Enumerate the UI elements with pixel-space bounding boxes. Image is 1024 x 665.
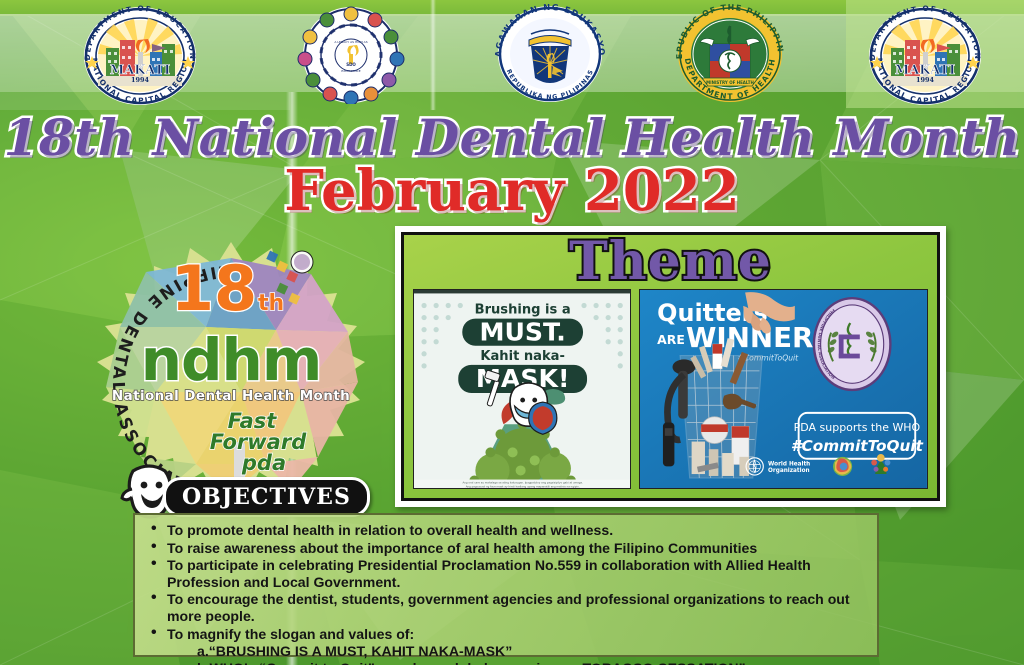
svg-text:ARE: ARE (657, 332, 685, 347)
svg-text:PDA supports the WHO: PDA supports the WHO (794, 421, 921, 434)
svg-text:MUST.: MUST. (479, 318, 565, 347)
objective-sub-item: b.WHO’s “Commit to Quit” year-long globa… (149, 660, 867, 665)
seal-department-of-health: MINISTRY OF HEALTH REPUBLIC OF THE PHILI… (672, 4, 788, 104)
theme-heading: Theme (404, 232, 937, 292)
svg-text:A LEGACY AS HIGH AS: A LEGACY AS HIGH AS (334, 40, 367, 44)
objectives-list: To promote dental health in relation to … (149, 522, 867, 642)
theme-panel: Theme (395, 226, 946, 507)
svg-text:EXCELLENCE: EXCELLENCE (341, 69, 360, 73)
svg-text:Organization: Organization (768, 468, 810, 474)
seal-deped-kagawaran: KAGAWARAN NG EDUKASYON REPUBLIKA NG PILI… (491, 4, 609, 104)
svg-text:Ang oral care ay mahalaga sa a: Ang oral care ay mahalaga sa ating kalus… (462, 481, 582, 485)
svg-text:Brushing is a: Brushing is a (475, 303, 571, 318)
theme-poster-quitters: Quitters ARE WINNERS #CommitToQuit (639, 289, 928, 489)
seal-deped-makati-ncr-right: 1994 MAKATI DEPARTMENT OF EDUCATION NATI… (861, 4, 989, 106)
svg-text:Kahit naka-: Kahit naka- (480, 349, 565, 364)
svg-text:MINISTRY OF HEALTH: MINISTRY OF HEALTH (706, 80, 754, 85)
svg-text:ndhm: ndhm (141, 326, 322, 394)
svg-text:National Dental Health Month: National Dental Health Month (112, 388, 350, 404)
objectives-heading-pill: OBJECTIVES (163, 477, 370, 517)
svg-text:18: 18 (171, 252, 257, 325)
svg-text:th: th (258, 291, 284, 316)
objectives-heading: OBJECTIVES (182, 486, 351, 508)
vertical-light-stripe-top (430, 0, 436, 110)
objective-item: To raise awareness about the importance … (149, 540, 867, 557)
svg-text:SDO: SDO (346, 62, 356, 67)
svg-text:MAKATI: MAKATI (895, 63, 955, 78)
svg-text:#CommitToQuit: #CommitToQuit (791, 437, 924, 455)
objective-item: To participate in celebrating Presidenti… (149, 557, 867, 590)
theme-images: Brushing is a MUST. Kahit naka- MASK! (413, 289, 928, 489)
seal-deped-makati-ncr-left: 1994 MAKATI DEPARTMENT OF EDUCATION NATI… (76, 4, 204, 106)
svg-text:pda: pda (241, 451, 286, 475)
theme-poster-brushing: Brushing is a MUST. Kahit naka- MASK! (413, 289, 631, 489)
theme-panel-inner: Theme (401, 232, 940, 501)
svg-text:Ang pagsusuot ng face mask ay: Ang pagsusuot ng face mask ay hindi hadl… (466, 485, 580, 488)
objective-item: To encourage the dentist, students, gove… (149, 591, 867, 624)
svg-text:World Health: World Health (768, 461, 810, 467)
ndhm-poster: 1994 MAKATI DEPARTMENT OF EDUCATION NATI… (0, 0, 1024, 665)
objectives-box: To promote dental health in relation to … (133, 513, 879, 657)
objective-sub-item: a.“BRUSHING IS A MUST, KAHIT NAKA-MASK” (149, 643, 867, 660)
objective-item: To promote dental health in relation to … (149, 522, 867, 539)
svg-text:MAKATI: MAKATI (110, 63, 170, 78)
objective-item: To magnify the slogan and values of: (149, 626, 867, 643)
poster-subtitle: February 2022 (0, 158, 1024, 224)
seal-schools-division-legacy: SDO A LEGACY AS HIGH AS EXCELLENCE (296, 6, 406, 104)
